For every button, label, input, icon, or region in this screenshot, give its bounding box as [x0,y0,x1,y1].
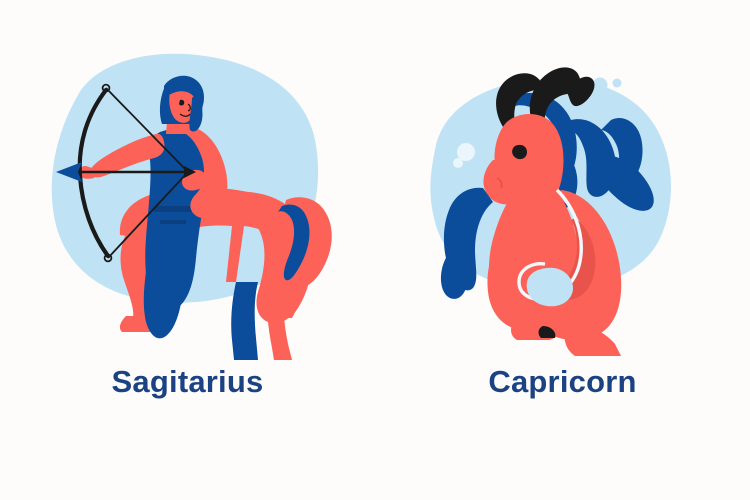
sign-label-sagittarius: Sagitarius [0,362,375,402]
horse-hind-leg [231,282,258,360]
sign-card-capricorn[interactable]: Capricorn [375,0,750,500]
goat-beard-tip [441,256,468,299]
archer-belt-line2 [160,220,186,224]
bubble-small-icon [203,80,212,89]
zodiac-page: Sagitarius [0,0,750,500]
capricorn-svg [375,0,750,360]
sign-card-sagittarius[interactable]: Sagitarius [0,0,375,500]
archer-dress-skirt [144,256,184,338]
sagittarius-illustration [0,0,375,360]
bubble-large-icon [593,78,608,93]
archer-belt [154,206,196,212]
sign-label-capricorn: Capricorn [375,362,750,402]
zodiac-signs-row: Sagitarius [0,0,750,500]
capricorn-illustration [375,0,750,360]
bubble-inner-small-icon [453,158,463,168]
bubble-small-icon [613,79,622,88]
sagittarius-svg [0,0,375,360]
